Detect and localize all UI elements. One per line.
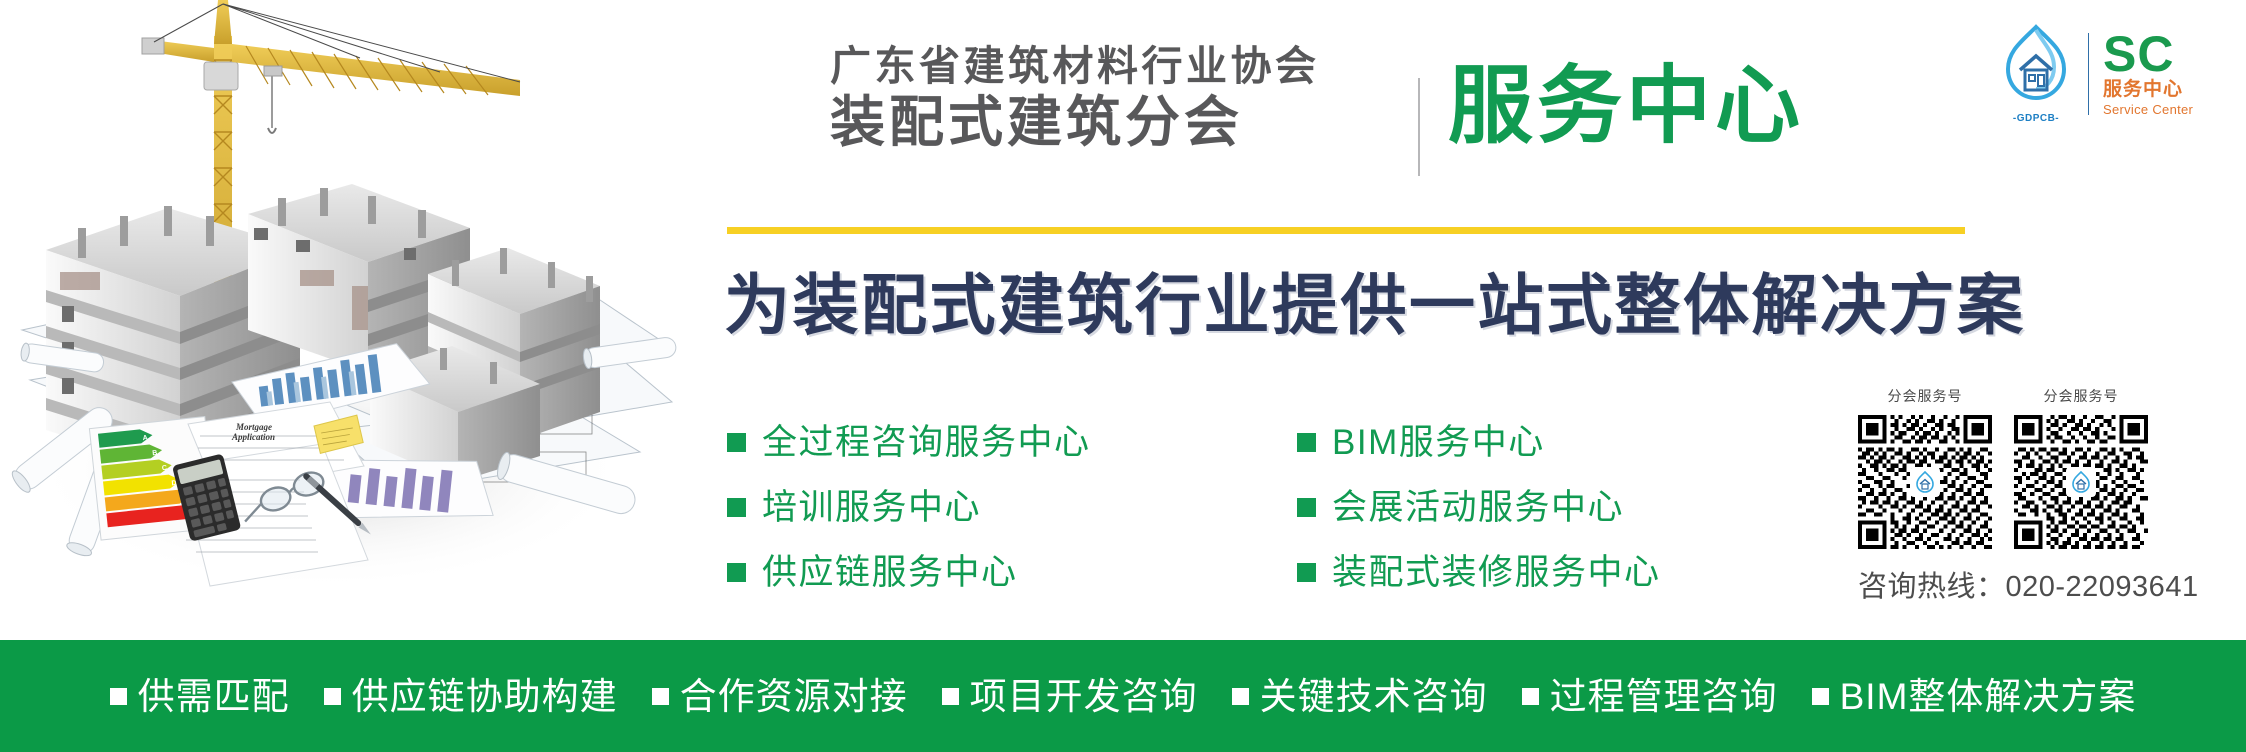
qr-code-icon[interactable] (2014, 415, 2148, 549)
square-bullet-icon (110, 688, 127, 705)
svg-text:Application: Application (231, 432, 275, 442)
service-center-label: 全过程咨询服务中心 (762, 425, 1091, 460)
square-bullet-icon (1297, 498, 1316, 517)
svg-text:Mortgage: Mortgage (235, 422, 272, 432)
sc-english-label: Service Center (2103, 102, 2193, 118)
service-center-list-right: BIM服务中心 会展活动服务中心 装配式装修服务中心 (1297, 410, 1661, 605)
service-center-label: 装配式装修服务中心 (1332, 555, 1661, 590)
sc-logo-text-block: SC 服务中心 Service Center (2103, 31, 2193, 117)
bottom-services-list: 供需匹配 供应链协助构建 合作资源对接 项目开发咨询 关键技术咨询 过程管理咨询 (110, 678, 2137, 715)
list-item[interactable]: 项目开发咨询 (942, 678, 1198, 715)
svg-text:C: C (162, 465, 168, 472)
hotline-text: 咨询热线：020-22093641 (1858, 563, 2178, 605)
sc-letters: SC (2103, 31, 2193, 77)
list-item[interactable]: 全过程咨询服务中心 (727, 410, 1091, 475)
square-bullet-icon (727, 563, 746, 582)
service-center-list-left: 全过程咨询服务中心 培训服务中心 供应链服务中心 (727, 410, 1091, 605)
square-bullet-icon (1522, 688, 1539, 705)
header-vertical-divider (1418, 78, 1420, 176)
qr-code-cell: 分会服务号 (2014, 386, 2148, 549)
bottom-service-label: 供需匹配 (138, 678, 290, 715)
service-center-label: 培训服务中心 (762, 490, 981, 525)
list-item[interactable]: 供应链服务中心 (727, 540, 1091, 605)
list-item[interactable]: 会展活动服务中心 (1297, 475, 1661, 540)
qr-code-caption: 分会服务号 (1858, 386, 1992, 406)
qr-and-hotline-zone: 分会服务号 (1858, 386, 2178, 605)
square-bullet-icon (324, 688, 341, 705)
brand-logo: -GDPCB- SC 服务中心 Service Center (1992, 18, 2232, 130)
page-title: 服务中心 (1448, 64, 1804, 149)
construction-building-blueprint-illustration: ABC DEF (0, 0, 690, 640)
square-bullet-icon (1812, 688, 1829, 705)
service-center-label: BIM服务中心 (1332, 425, 1545, 460)
square-bullet-icon (1297, 433, 1316, 452)
list-item[interactable]: 合作资源对接 (652, 678, 908, 715)
hero-illustration-svg: ABC DEF (0, 0, 690, 640)
svg-text:B: B (152, 450, 158, 457)
qr-code-cell: 分会服务号 (1858, 386, 1992, 549)
promotional-banner: ABC DEF (0, 0, 2246, 752)
list-item[interactable]: BIM整体解决方案 (1812, 678, 2137, 715)
service-center-label: 供应链服务中心 (762, 555, 1018, 590)
square-bullet-icon (1232, 688, 1249, 705)
list-item[interactable]: 关键技术咨询 (1232, 678, 1488, 715)
square-bullet-icon (652, 688, 669, 705)
sc-chinese-label: 服务中心 (2103, 78, 2193, 102)
svg-text:A: A (142, 435, 148, 442)
logo-divider (2088, 33, 2089, 115)
association-name-line1: 广东省建筑材料行业协会 (830, 44, 1400, 90)
square-bullet-icon (942, 688, 959, 705)
tagline: 为装配式建筑行业提供一站式整体解决方案 (724, 252, 2026, 348)
qr-code-icon[interactable] (1858, 415, 1992, 549)
bottom-service-label: BIM整体解决方案 (1840, 678, 2137, 715)
bottom-service-label: 过程管理咨询 (1550, 678, 1778, 715)
bottom-service-label: 关键技术咨询 (1260, 678, 1488, 715)
gdpcb-flame-house-icon: -GDPCB- (1992, 24, 2080, 124)
square-bullet-icon (727, 433, 746, 452)
qr-center-logo-icon (2066, 467, 2096, 497)
gdpcb-logo-caption: -GDPCB- (1992, 113, 2080, 124)
bottom-service-label: 供应链协助构建 (352, 678, 618, 715)
bottom-service-label: 项目开发咨询 (970, 678, 1198, 715)
list-item[interactable]: 供需匹配 (110, 678, 290, 715)
list-item[interactable]: 装配式装修服务中心 (1297, 540, 1661, 605)
list-item[interactable]: 过程管理咨询 (1522, 678, 1778, 715)
qr-code-caption: 分会服务号 (2014, 386, 2148, 406)
gold-divider-rule (727, 227, 1965, 234)
association-name-line2: 装配式建筑分会 (830, 92, 1400, 154)
qr-center-logo-icon (1910, 467, 1940, 497)
qr-code-row: 分会服务号 (1858, 386, 2178, 549)
list-item[interactable]: BIM服务中心 (1297, 410, 1661, 475)
square-bullet-icon (1297, 563, 1316, 582)
square-bullet-icon (727, 498, 746, 517)
service-center-label: 会展活动服务中心 (1332, 490, 1624, 525)
list-item[interactable]: 培训服务中心 (727, 475, 1091, 540)
bottom-services-bar: 供需匹配 供应链协助构建 合作资源对接 项目开发咨询 关键技术咨询 过程管理咨询 (0, 640, 2246, 752)
bottom-service-label: 合作资源对接 (680, 678, 908, 715)
association-name-block: 广东省建筑材料行业协会 装配式建筑分会 (830, 44, 1400, 154)
list-item[interactable]: 供应链协助构建 (324, 678, 618, 715)
